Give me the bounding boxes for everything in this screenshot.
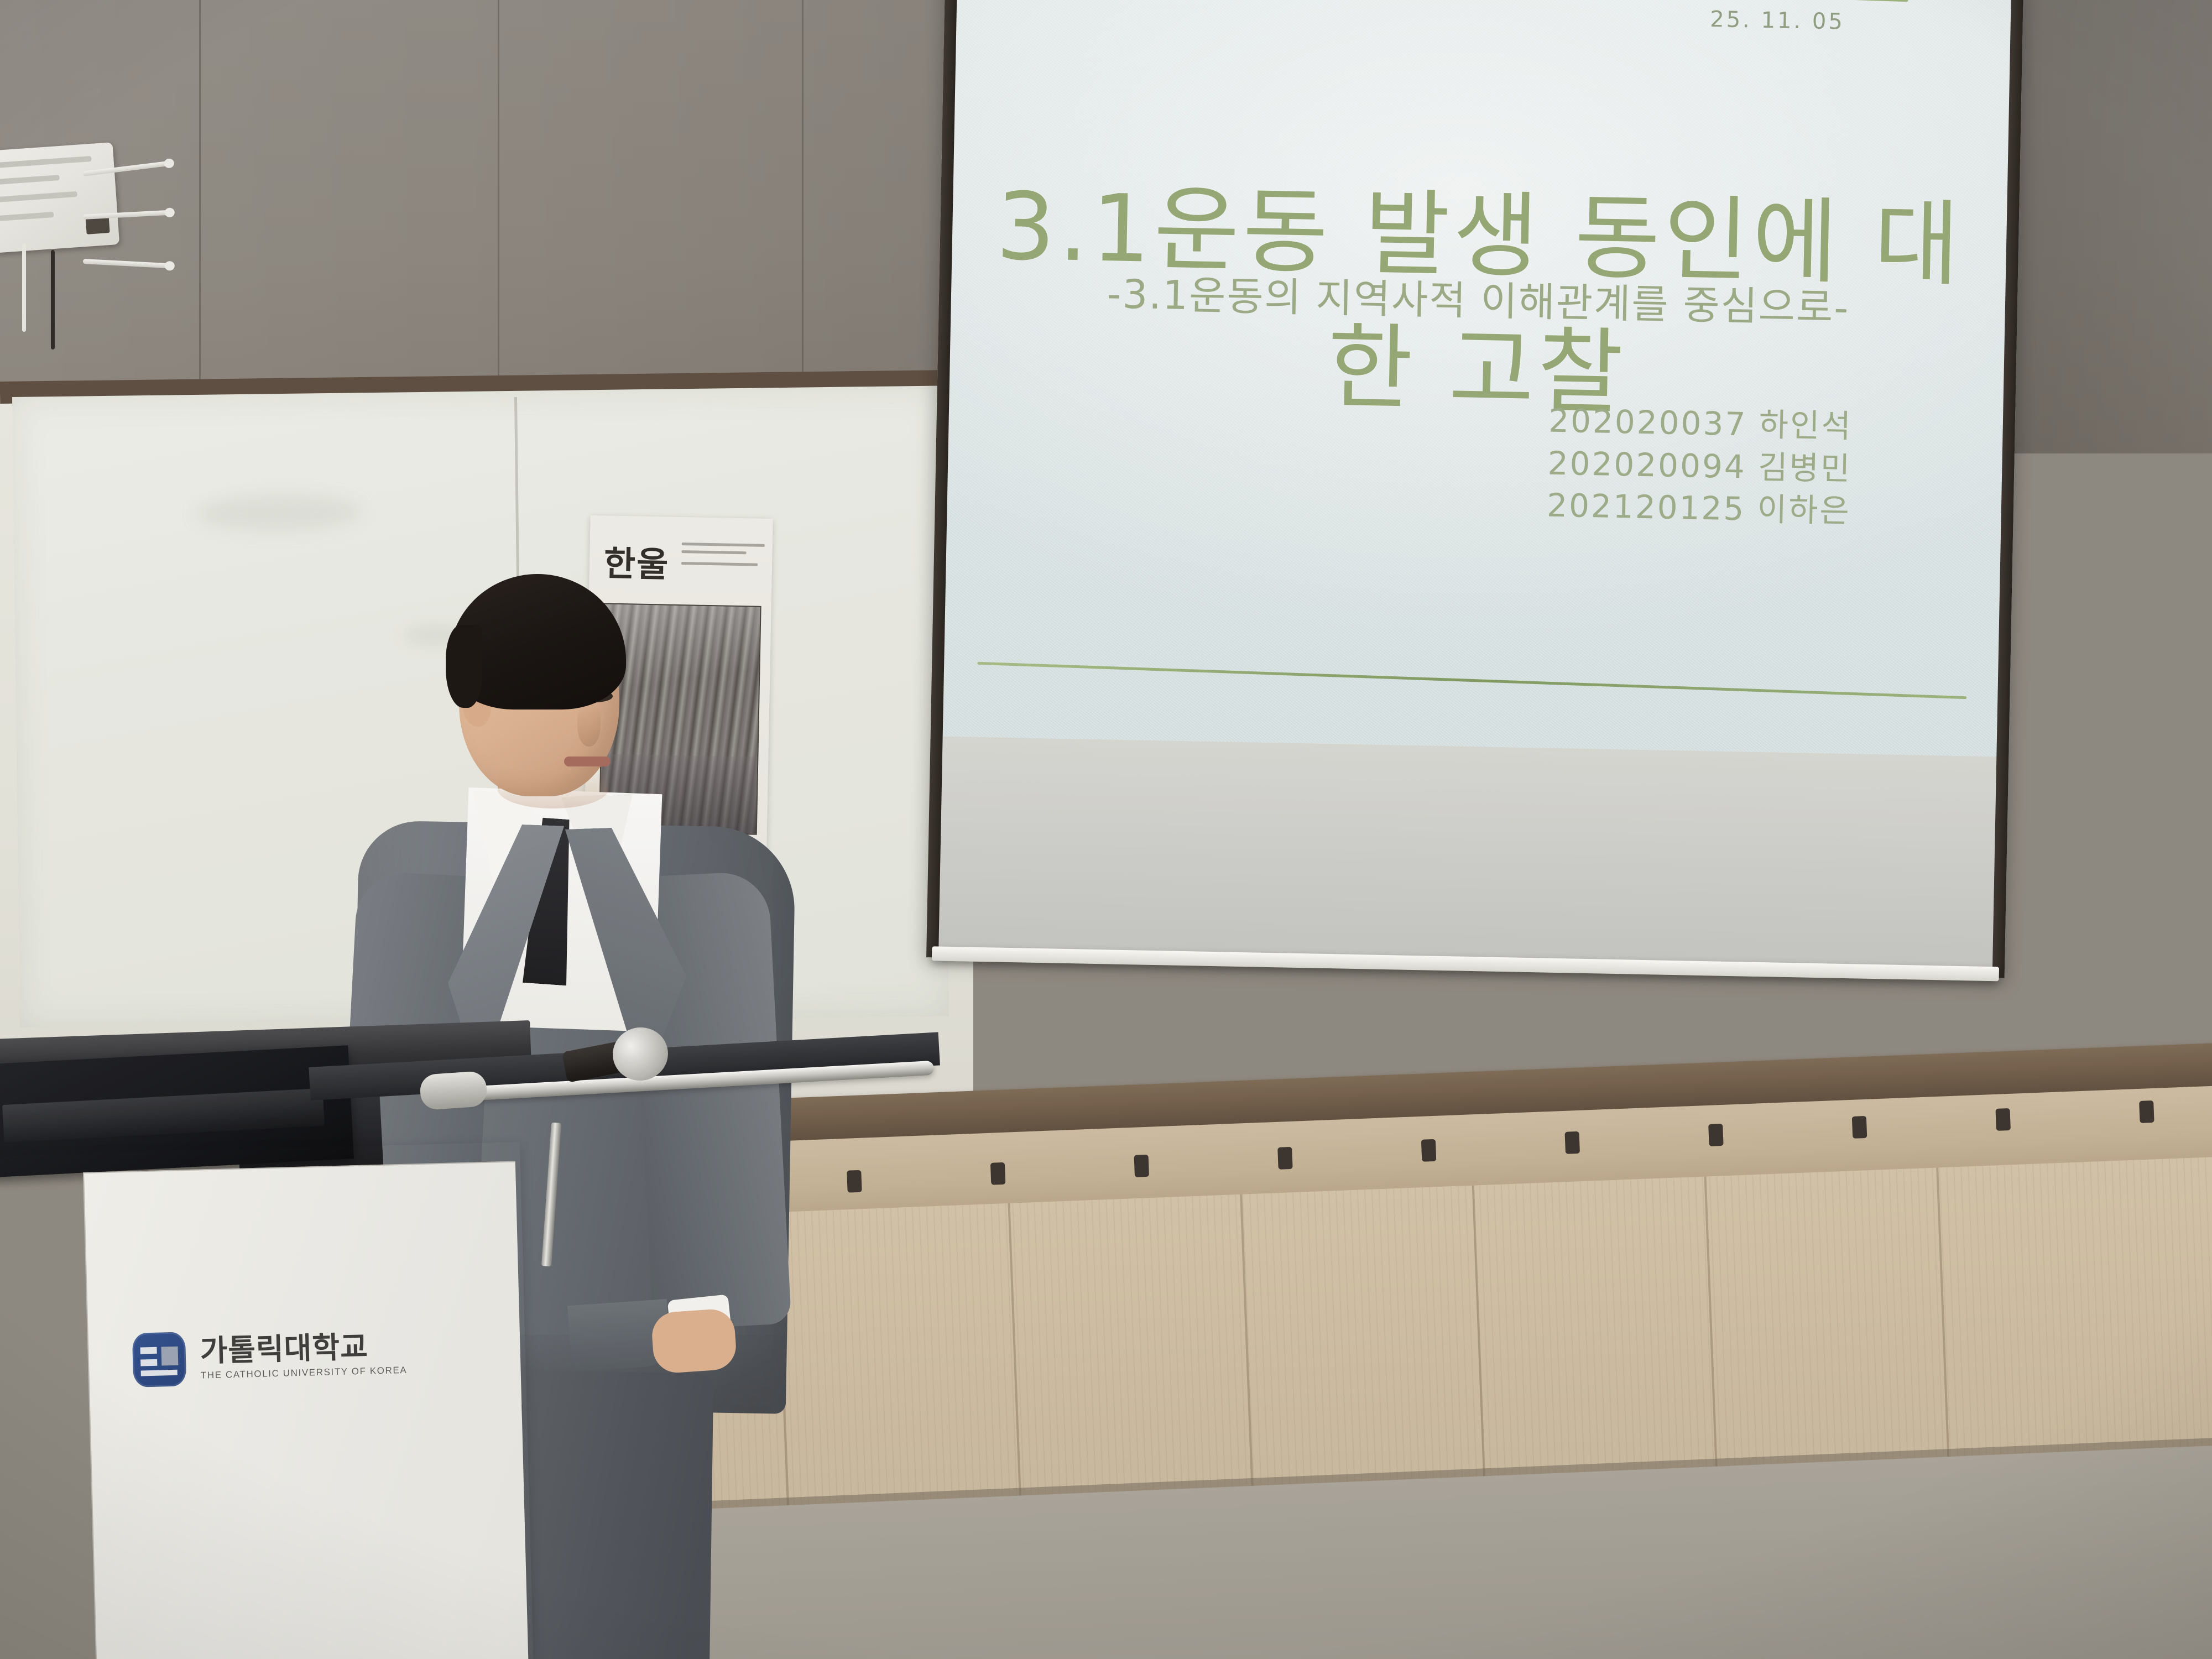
screen-unlit-area: [938, 737, 1996, 978]
university-emblem-icon: [132, 1332, 187, 1387]
mouth: [564, 757, 611, 766]
projection-screen: 25. 11. 05 3.1운동 발생 동인에 대한 고찰 -3.1운동의 지역…: [926, 0, 2023, 978]
projected-slide: 25. 11. 05 3.1운동 발생 동인에 대한 고찰 -3.1운동의 지역…: [943, 0, 2011, 757]
author-line: 202020037 하인석: [1548, 400, 1853, 448]
hand-right: [650, 1308, 737, 1374]
chin-shadow: [498, 770, 608, 808]
author-line: 202020094 김병민: [1547, 442, 1852, 490]
wall-mounted-device: [0, 142, 119, 253]
university-name-korean: 가톨릭대학교: [200, 1331, 407, 1366]
author-line: 202120125 이하은: [1547, 484, 1851, 533]
nose: [577, 703, 601, 747]
lectern-rail-cap: [419, 1071, 488, 1110]
monitor-screen-reflection: [2, 1088, 325, 1142]
hair: [449, 574, 626, 709]
slide-authors: 202020037 하인석 202020094 김병민 202120125 이하…: [1547, 400, 1853, 533]
university-logo: 가톨릭대학교 THE CATHOLIC UNIVERSITY OF KOREA: [132, 1318, 466, 1394]
podium-front-panel: [83, 1161, 528, 1659]
presentation-photo-scene: 한울 25. 11. 05 3.1운동 발생 동인에 대한 고찰 -3.1운동의…: [0, 0, 2212, 1659]
slide-date: 25. 11. 05: [1710, 7, 1845, 35]
